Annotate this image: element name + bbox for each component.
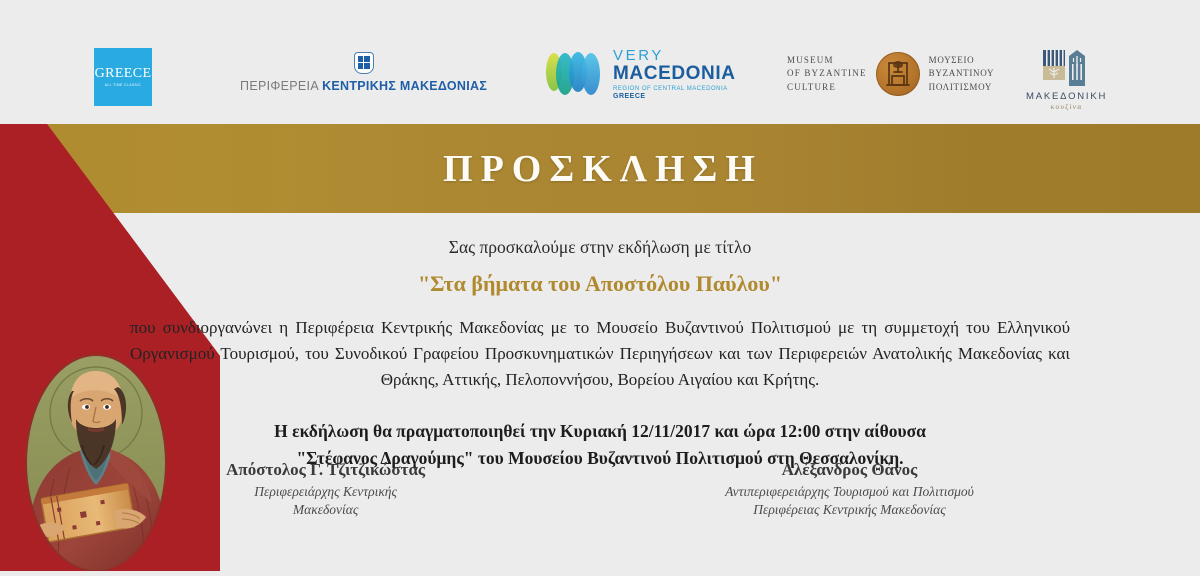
- cityscape-fork-building-icon: [1035, 44, 1099, 86]
- greece-logo-sub: ALL TIME CLASSIC: [105, 83, 142, 87]
- organizers-paragraph: που συνδιοργανώνει η Περιφέρεια Κεντρική…: [130, 315, 1070, 392]
- signatory-name: Αλέξανδρος Θάνος: [725, 460, 974, 480]
- museum-logo-en-line-2: OF BYZANTINE: [787, 67, 867, 80]
- museum-logo-el-line-3: ΠΟΛΙΤΙΣΜΟΥ: [929, 81, 995, 94]
- makedoniki-kouzina-logo: ΜΑΚΕΔΟΝΙΚΗ κουζίνα: [1026, 44, 1107, 111]
- museum-logo-text-english: MUSEUM OF BYZANTINE CULTURE: [787, 54, 867, 93]
- signatures-row: Απόστολος Γ. Τζιτζικώστας Περιφερειάρχης…: [0, 460, 1200, 519]
- signatory-role-line-1: Περιφερειάρχης Κεντρικής: [226, 483, 425, 501]
- event-details-line-1: Η εκδήλωση θα πραγματοποιηθεί την Κυριακ…: [150, 418, 1050, 444]
- very-macedonia-logo-text: VERY MACEDONIA REGION OF CENTRAL MACEDON…: [613, 48, 736, 100]
- signatory-role-line-2: Μακεδονίας: [226, 501, 425, 519]
- makedoniki-kouzina-subtitle: κουζίνα: [1051, 103, 1083, 111]
- invitation-banner-title: ΠΡΟΣΚΛΗΣΗ: [0, 124, 1200, 213]
- sponsor-logo-strip: GREECE ALL TIME CLASSIC ΠΕΡΙΦΕΡΕΙΑ ΚΕΝΤΡ…: [0, 0, 1200, 124]
- museum-logo-el-line-1: ΜΟΥΣΕΙΟ: [929, 54, 995, 67]
- invitation-page: GREECE ALL TIME CLASSIC ΠΕΡΙΦΕΡΕΙΑ ΚΕΝΤΡ…: [0, 0, 1200, 571]
- signatory-role: Αντιπεριφερειάρχης Τουρισμού και Πολιτισ…: [725, 483, 974, 519]
- museum-logo-text-greek: ΜΟΥΣΕΙΟ ΒΥΖΑΝΤΙΝΟΥ ΠΟΛΙΤΙΣΜΟΥ: [929, 54, 995, 93]
- signatory-role-line-1: Αντιπεριφερειάρχης Τουρισμού και Πολιτισ…: [725, 483, 974, 501]
- very-macedonia-line-region: REGION OF CENTRAL MACEDONIA: [613, 86, 736, 92]
- very-macedonia-line-very: VERY: [613, 48, 736, 63]
- signature-block: Αλέξανδρος Θάνος Αντιπεριφερειάρχης Τουρ…: [725, 460, 974, 519]
- very-macedonia-logo: VERY MACEDONIA REGION OF CENTRAL MACEDON…: [545, 48, 736, 100]
- very-macedonia-line-macedonia: MACEDONIA: [613, 64, 736, 83]
- signature-block: Απόστολος Γ. Τζιτζικώστας Περιφερειάρχης…: [226, 460, 425, 519]
- region-logo-text: ΠΕΡΙΦΕΡΕΙΑ ΚΕΝΤΡΙΚΗΣ ΜΑΚΕΔΟΝΙΑΣ: [240, 79, 487, 93]
- museum-of-byzantine-culture-logo: MUSEUM OF BYZANTINE CULTURE: [787, 52, 994, 96]
- byzantine-throne-seal-icon: [876, 52, 920, 96]
- greece-logo-main: GREECE: [95, 67, 152, 81]
- signatory-role: Περιφερειάρχης Κεντρικής Μακεδονίας: [226, 483, 425, 519]
- region-logo-text-bold: ΚΕΝΤΡΙΚΗΣ ΜΑΚΕΔΟΝΙΑΣ: [322, 79, 487, 93]
- signatory-name: Απόστολος Γ. Τζιτζικώστας: [226, 460, 425, 480]
- museum-logo-en-line-3: CULTURE: [787, 81, 867, 94]
- apostle-paul-icon: [18, 351, 174, 571]
- greek-state-crest-icon: [354, 52, 374, 74]
- event-title: "Στα βήματα του Αποστόλου Παύλου": [0, 271, 1200, 297]
- invite-intro-line: Σας προσκαλούμε στην εκδήλωση με τίτλο: [0, 237, 1200, 258]
- invitation-body: Σας προσκαλούμε στην εκδήλωση με τίτλο "…: [0, 213, 1200, 571]
- museum-logo-el-line-2: ΒΥΖΑΝΤΙΝΟΥ: [929, 67, 995, 80]
- makedoniki-kouzina-name: ΜΑΚΕΔΟΝΙΚΗ: [1026, 91, 1107, 102]
- region-of-central-macedonia-logo: ΠΕΡΙΦΕΡΕΙΑ ΚΕΝΤΡΙΚΗΣ ΜΑΚΕΔΟΝΙΑΣ: [240, 52, 487, 93]
- region-logo-text-light: ΠΕΡΙΦΕΡΕΙΑ: [240, 79, 322, 93]
- macedonia-m-petals-icon: [545, 50, 605, 98]
- very-macedonia-line-greece: GREECE: [613, 93, 736, 100]
- greece-logo: GREECE ALL TIME CLASSIC: [94, 48, 152, 106]
- signatory-role-line-2: Περιφέρειας Κεντρικής Μακεδονίας: [725, 501, 974, 519]
- museum-logo-en-line-1: MUSEUM: [787, 54, 867, 67]
